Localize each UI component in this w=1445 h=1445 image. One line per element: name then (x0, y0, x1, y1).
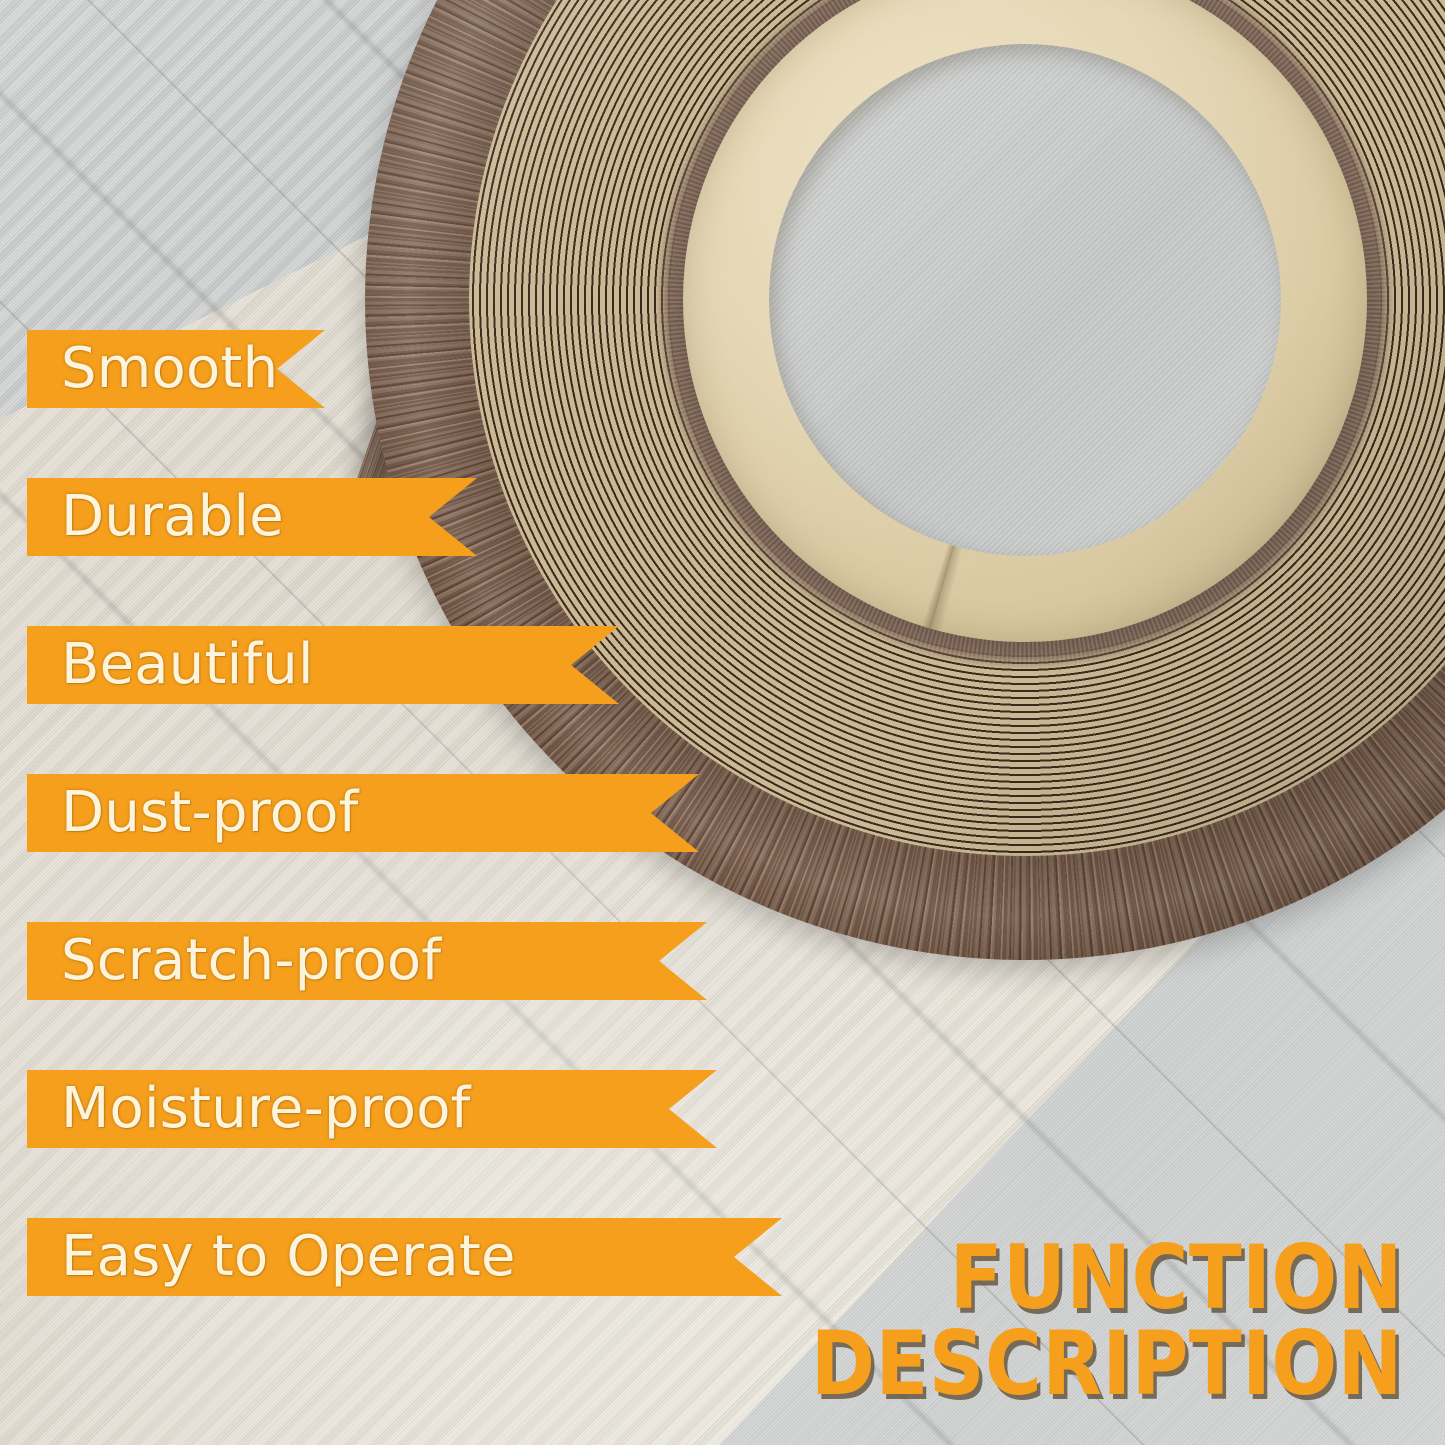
feature-banner-dust-proof: Dust-proof (27, 774, 699, 852)
feature-label: Smooth (61, 341, 278, 397)
feature-banner-list: Smooth Durable Beautiful Dust-proof Scra… (0, 330, 900, 1366)
feature-banner-durable: Durable (27, 478, 477, 556)
feature-label: Easy to Operate (61, 1229, 516, 1285)
heading-line-function: FUNCTION (811, 1235, 1403, 1321)
feature-banner-scratch-proof: Scratch-proof (27, 922, 707, 1000)
banner-row: Smooth (0, 330, 900, 478)
function-description-heading: FUNCTION DESCRIPTION (730, 1235, 1403, 1407)
feature-label: Beautiful (61, 637, 314, 693)
feature-banner-moisture-proof: Moisture-proof (27, 1070, 717, 1148)
banner-row: Durable (0, 478, 900, 626)
product-feature-graphic: Smooth Durable Beautiful Dust-proof Scra… (0, 0, 1445, 1445)
banner-row: Moisture-proof (0, 1070, 900, 1218)
banner-row: Dust-proof (0, 774, 900, 922)
feature-label: Dust-proof (61, 785, 359, 841)
heading-line-description: DESCRIPTION (811, 1321, 1403, 1407)
feature-label: Durable (61, 489, 284, 545)
feature-label: Moisture-proof (61, 1081, 471, 1137)
feature-label: Scratch-proof (61, 933, 441, 989)
banner-row: Beautiful (0, 626, 900, 774)
feature-banner-smooth: Smooth (27, 330, 325, 408)
feature-banner-beautiful: Beautiful (27, 626, 619, 704)
banner-row: Scratch-proof (0, 922, 900, 1070)
feature-banner-easy-to-operate: Easy to Operate (27, 1218, 782, 1296)
